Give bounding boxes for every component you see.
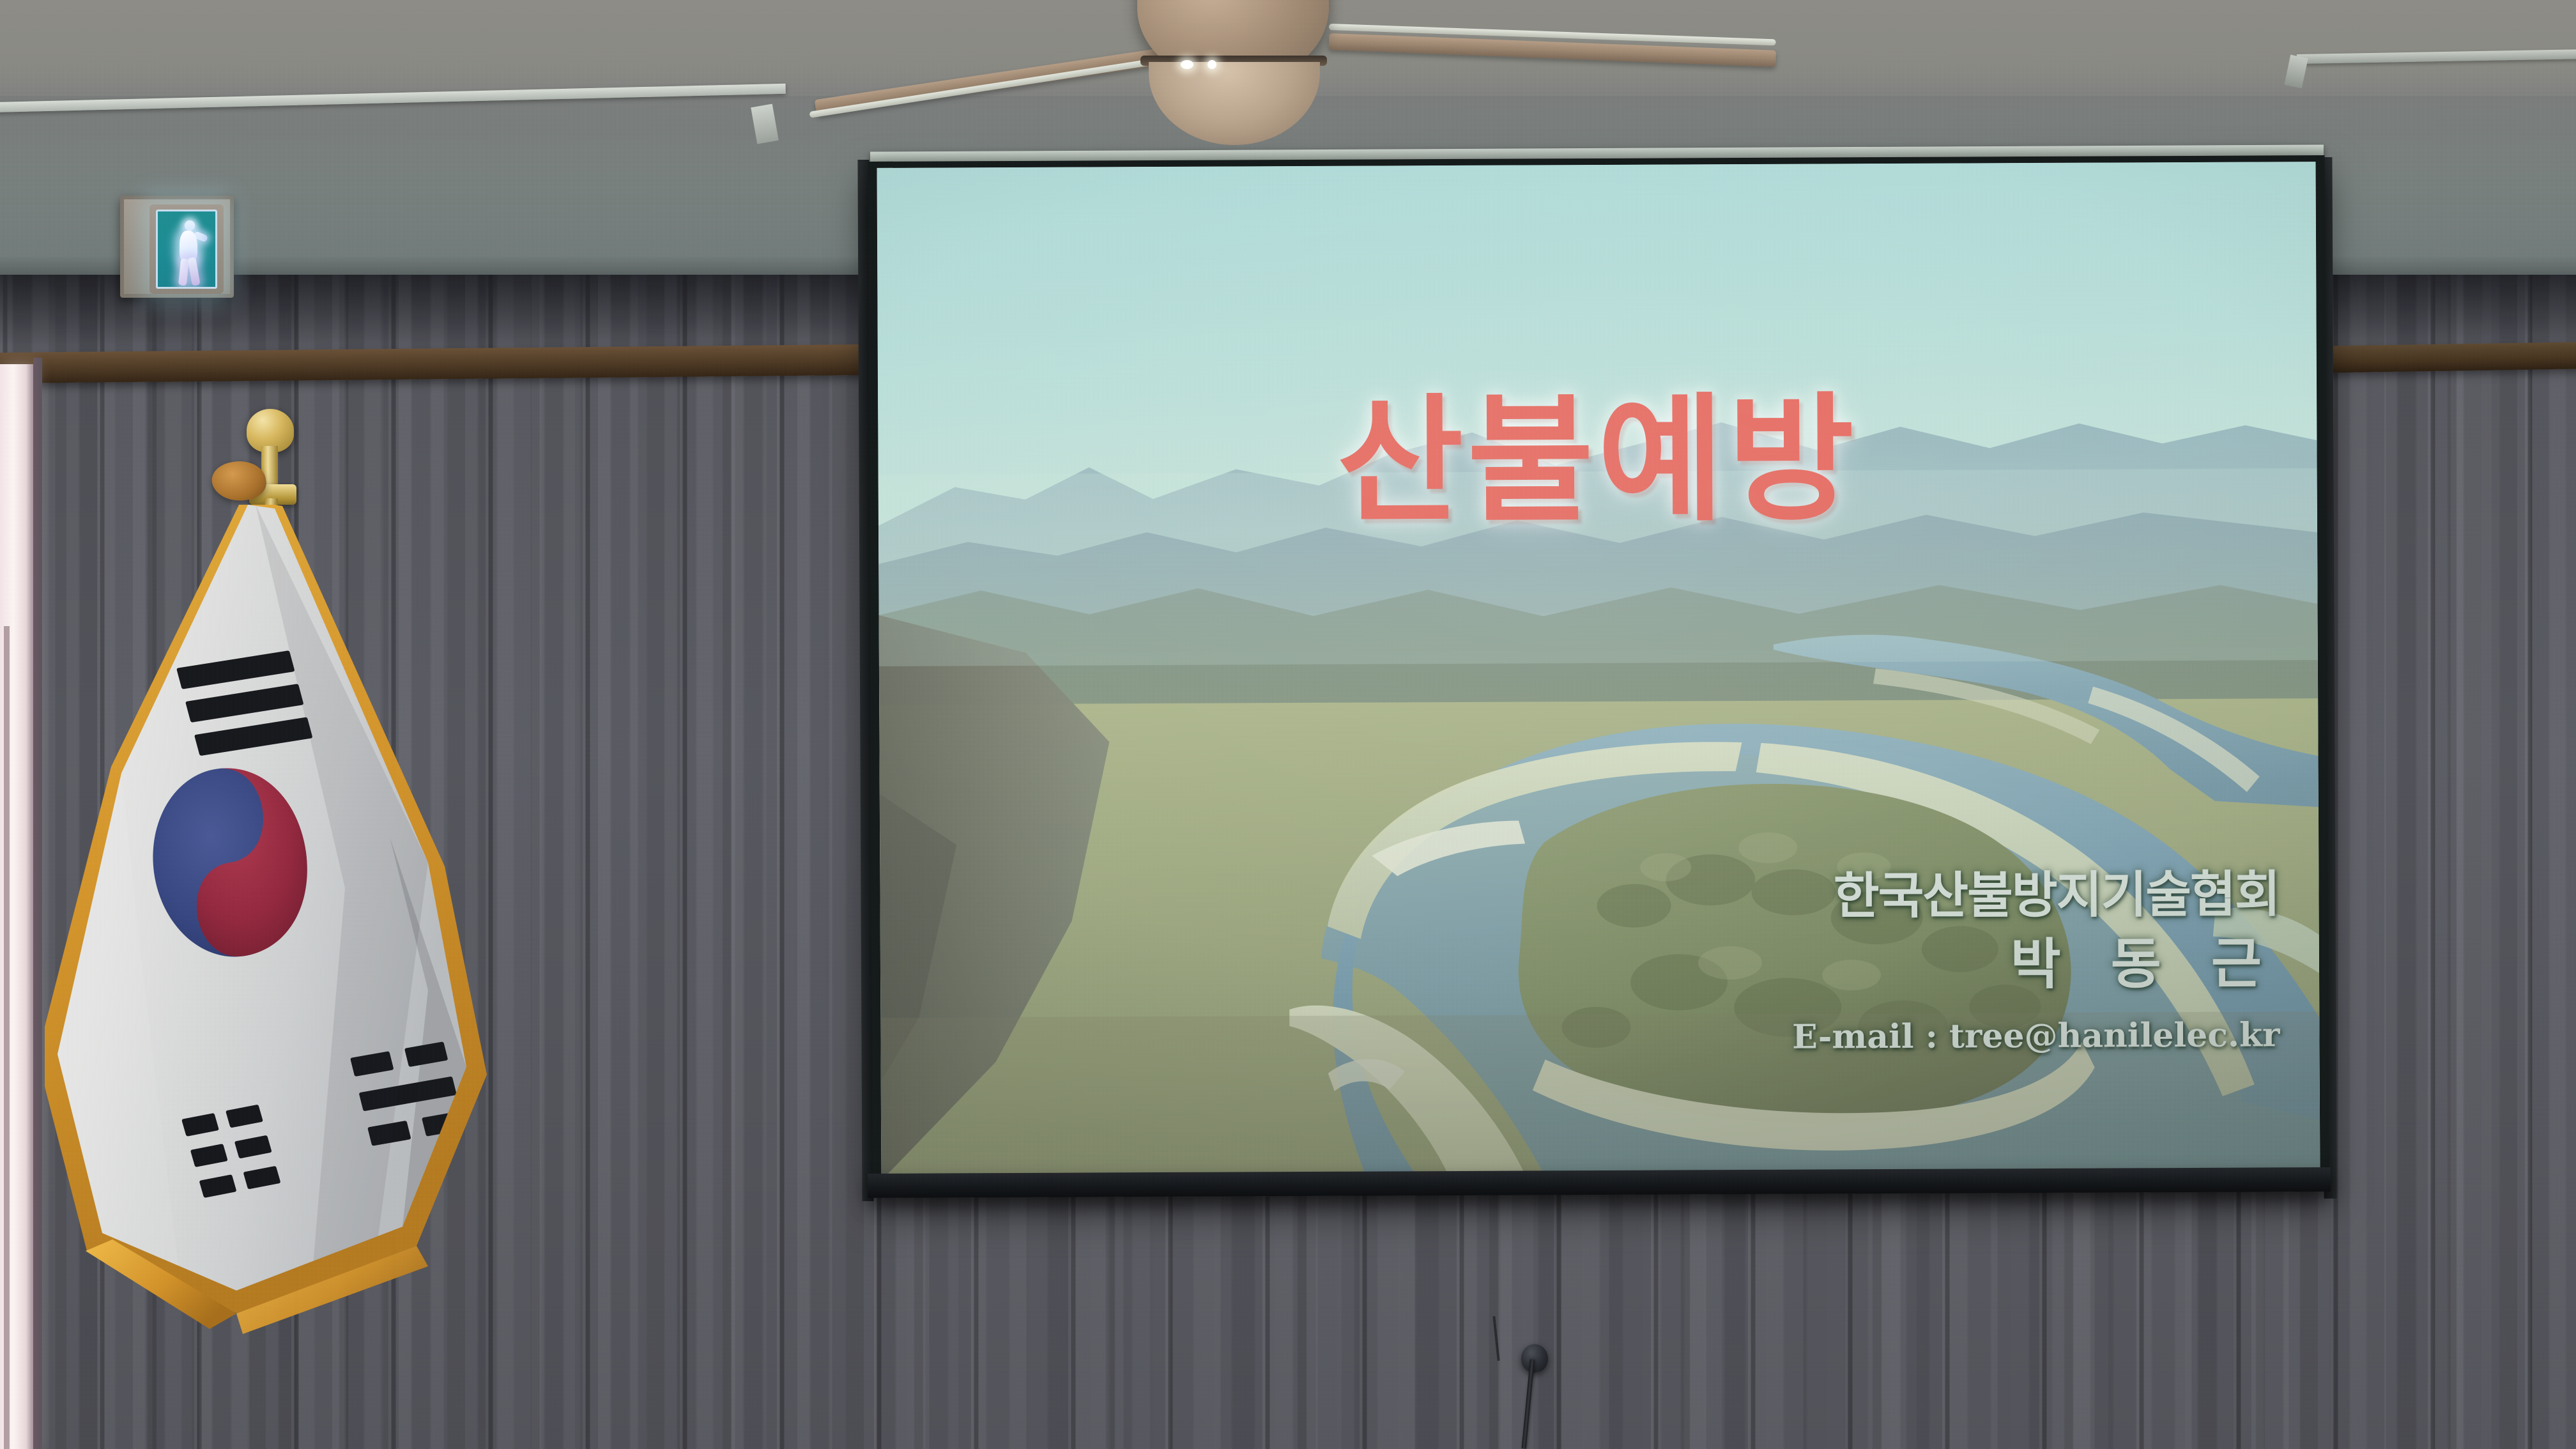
slide-email: E-mail : tree@hanilelec.kr (1481, 1015, 2280, 1059)
screen-frame: 산불예방 한국산불방지기술협회 박 동 근 E-mail : tree@hani… (868, 155, 2329, 1197)
slide-presenter-name: 박 동 근 (1481, 930, 2280, 1002)
exit-person-head (185, 220, 195, 231)
doorway-shadow-line (4, 626, 10, 1449)
slide-organization: 한국산불방지기술협회 (1480, 870, 2279, 923)
running-person-icon (171, 219, 206, 286)
fan-light-bowl (1149, 62, 1320, 145)
microphone-icon (1521, 1344, 1548, 1372)
doorway-edge (33, 358, 42, 1449)
projection-screen: 산불예방 한국산불방지기술협회 박 동 근 E-mail : tree@hani… (870, 148, 2340, 1215)
fan-light-glint-b (1207, 60, 1216, 69)
room-photo-scene: 산불예방 한국산불방지기술협회 박 동 근 E-mail : tree@hani… (0, 0, 2576, 1449)
screen-surface: 산불예방 한국산불방지기술협회 박 동 근 E-mail : tree@hani… (877, 162, 2320, 1181)
emergency-exit-sign (120, 195, 234, 298)
ceiling-fan-icon (882, 0, 1636, 139)
korean-flag-display (45, 409, 517, 1449)
slide-main-title: 산불예방 (878, 388, 2317, 532)
exit-person-leg-back (187, 257, 200, 286)
slide-credits-block: 한국산불방지기술협회 박 동 근 E-mail : tree@hanilelec… (1480, 870, 2280, 1058)
fan-light-glint-a (1181, 60, 1193, 69)
exit-sign-face (156, 210, 217, 289)
taegukgi-svg (45, 505, 517, 1399)
presentation-slide: 산불예방 한국산불방지기술협회 박 동 근 E-mail : tree@hani… (877, 162, 2320, 1181)
flag-cloth (45, 505, 517, 1399)
